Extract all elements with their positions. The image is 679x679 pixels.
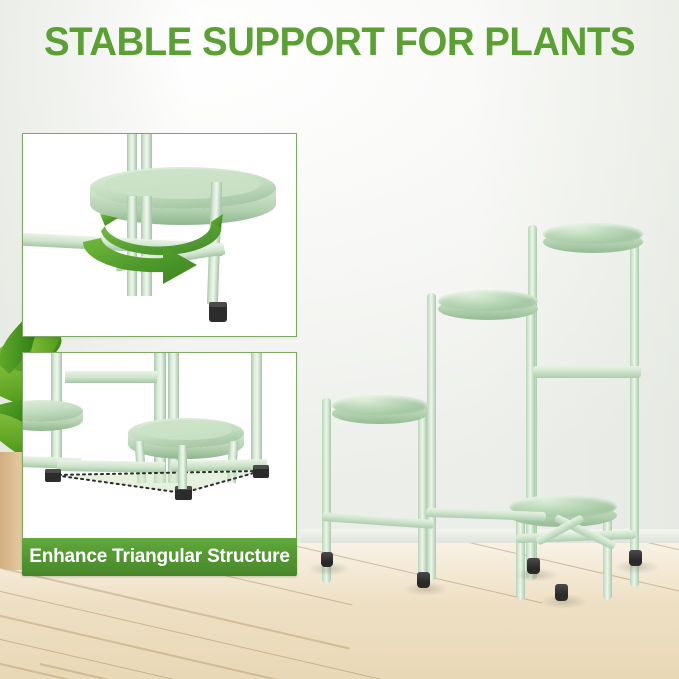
inset-triangular-structure	[22, 352, 297, 540]
status-badge-caption: Enhance Triangular Structure	[22, 538, 297, 576]
tray-tier-2	[332, 395, 428, 423]
page-title: STABLE SUPPORT FOR PLANTS	[14, 18, 666, 66]
rotation-detail-illustration	[23, 134, 296, 336]
tray-tier-3	[438, 290, 538, 320]
tray-tier-4	[543, 223, 643, 253]
banner-label: Enhance Triangular Structure	[29, 546, 289, 568]
inset-rotation-detail	[22, 133, 297, 337]
triangular-structure-illustration	[23, 353, 296, 539]
product-marketing-image: STABLE SUPPORT FOR PLANTS	[0, 0, 679, 679]
plant-stand	[300, 180, 679, 620]
mid-shelf-strip	[533, 366, 641, 378]
